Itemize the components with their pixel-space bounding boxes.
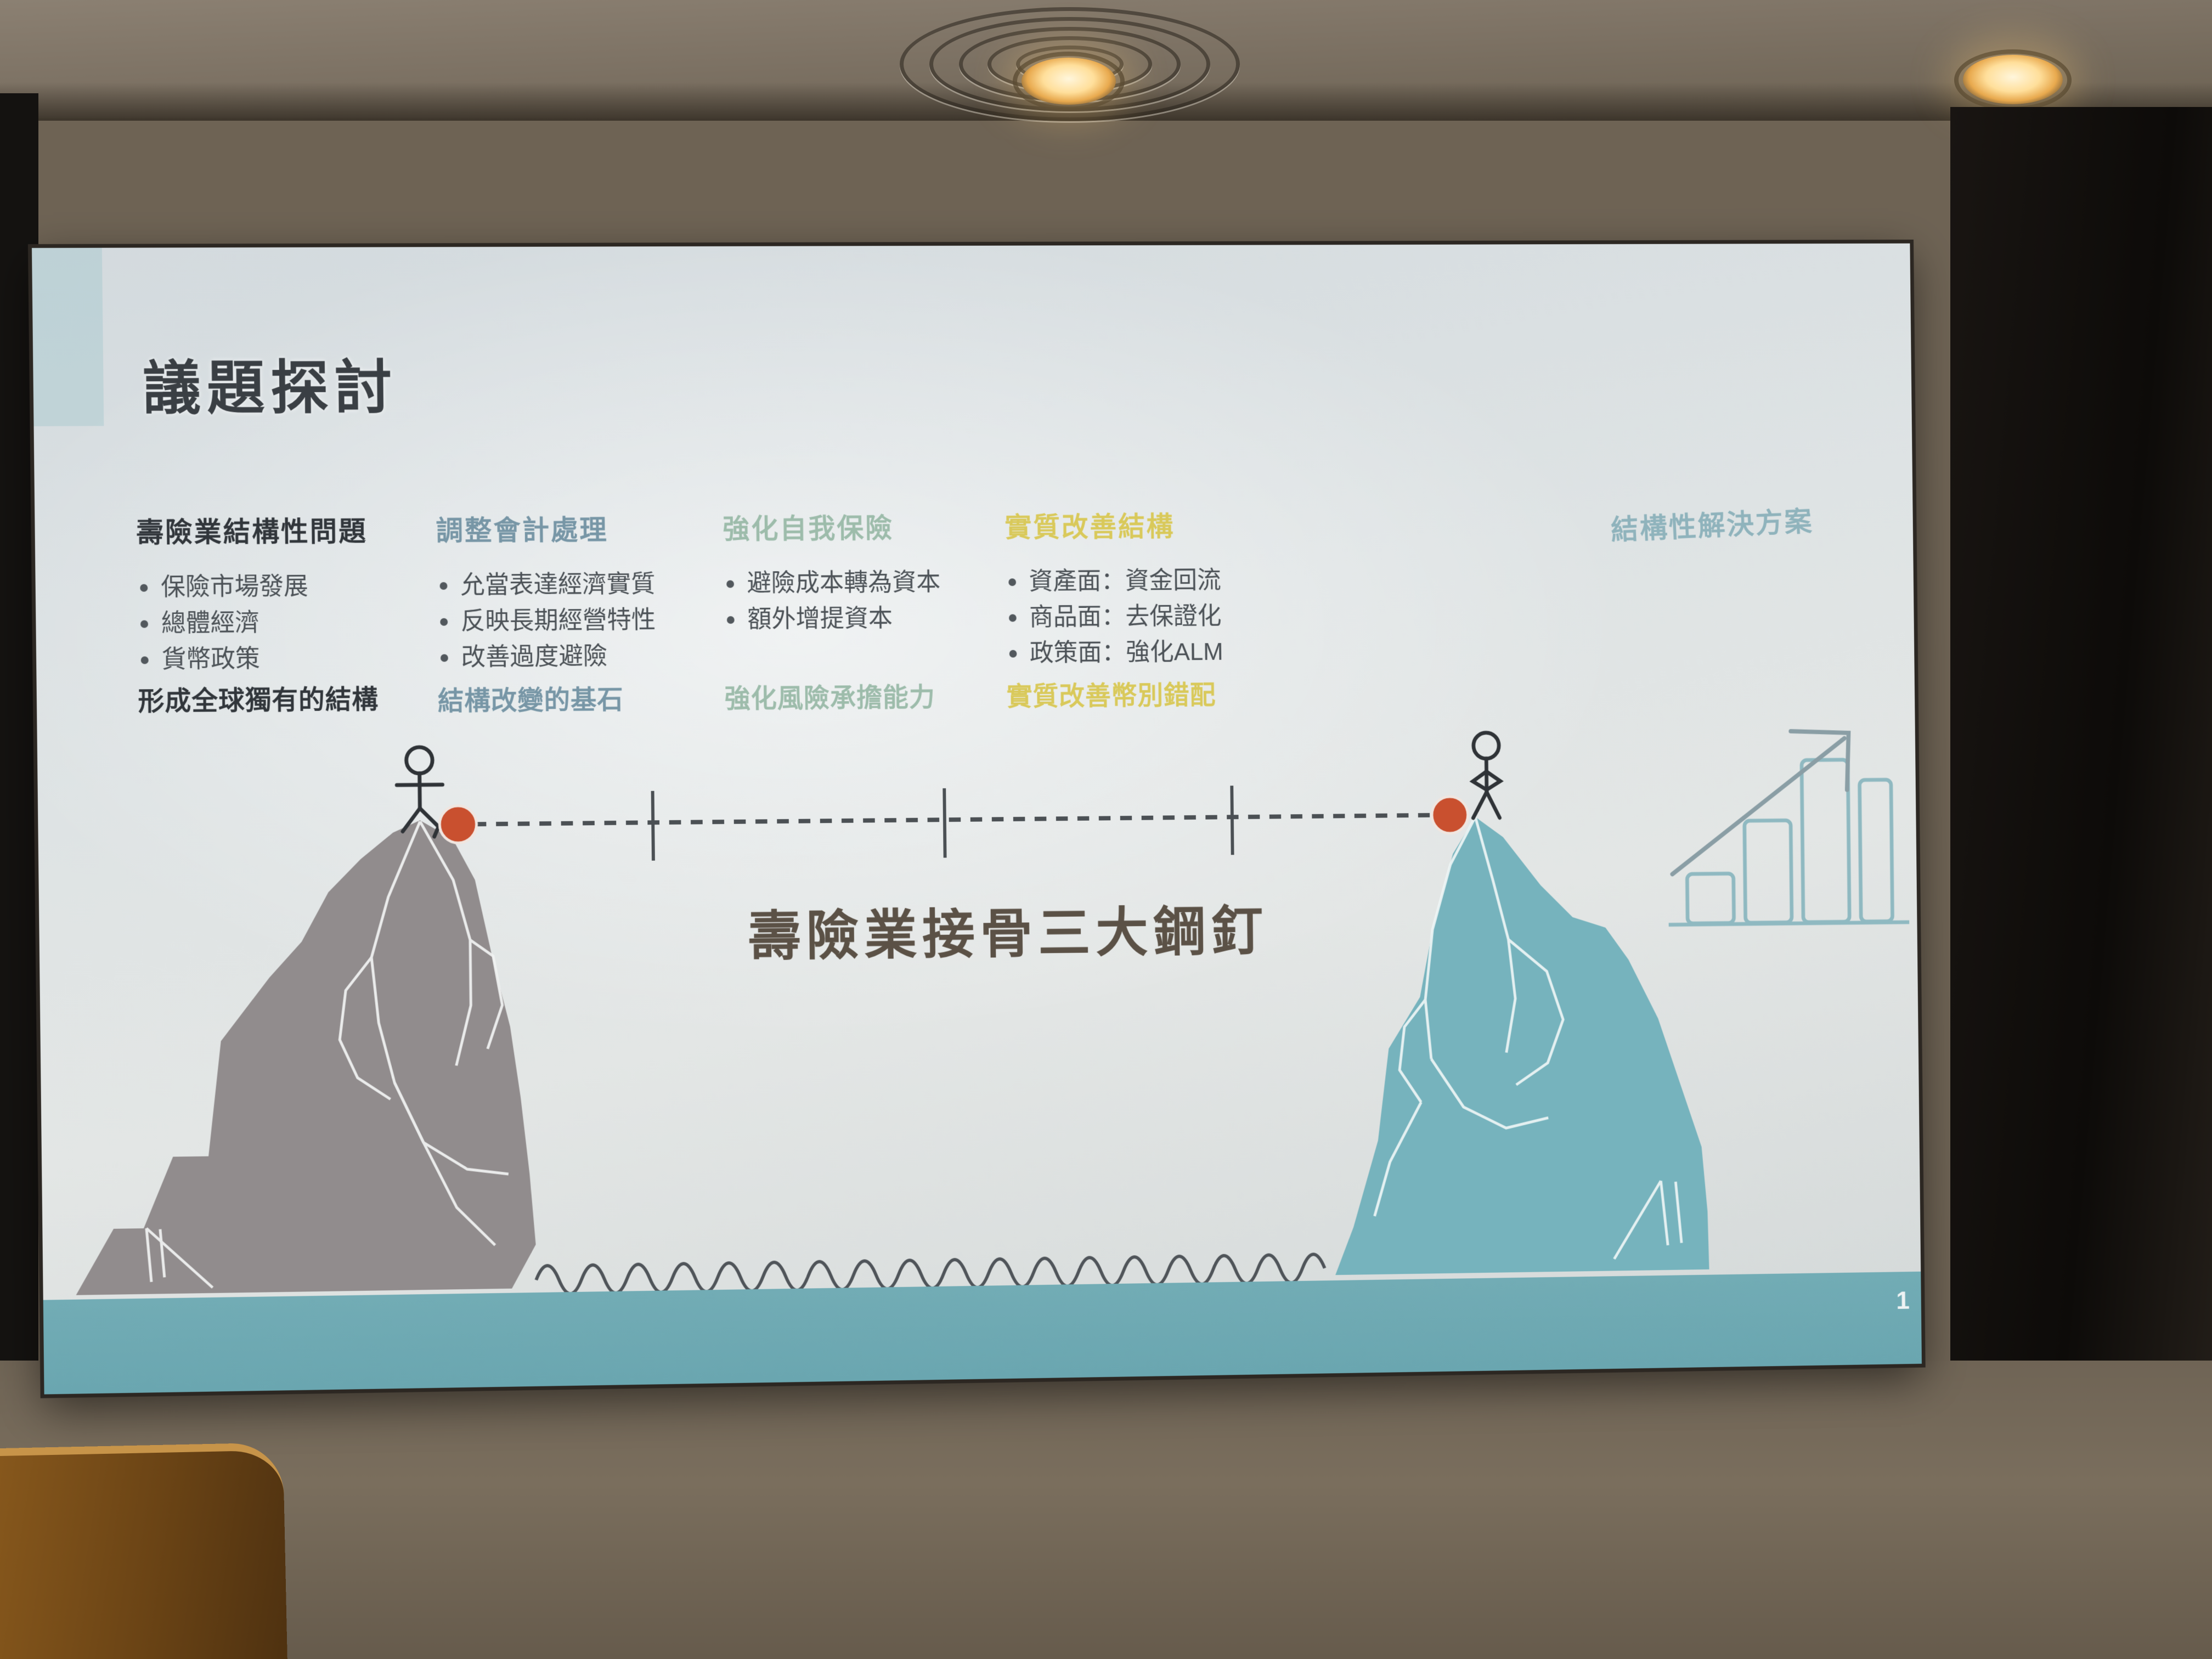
up-right-arrow-icon (1671, 731, 1850, 874)
wall-lower (0, 1361, 2212, 1659)
growth-baseline (1669, 922, 1909, 925)
foreground-chair (0, 1442, 287, 1659)
growth-bar (1860, 780, 1893, 922)
teal-solution-mountain (1330, 731, 1709, 1275)
wall-right (1950, 107, 2212, 1369)
growth-bar (1745, 820, 1792, 923)
room-scene: 議題探討 壽險業結構性問題 保險市場發展 總體經濟 貨幣政策 形成全球獨有的結構… (0, 0, 2212, 1659)
slide-illustration (32, 244, 1922, 1395)
projection-screen: 議題探討 壽險業結構性問題 保險市場發展 總體經濟 貨幣政策 形成全球獨有的結構… (32, 244, 1922, 1395)
page-number: 1 (1896, 1285, 1910, 1314)
presentation-slide: 議題探討 壽險業結構性問題 保險市場發展 總體經濟 貨幣政策 形成全球獨有的結構… (32, 244, 1922, 1395)
marker-dot-left (439, 805, 477, 843)
connector-tick (1232, 786, 1232, 855)
downlight-center-icon (1022, 58, 1116, 105)
connector-tick (944, 788, 945, 858)
connector-line (452, 783, 1452, 862)
connector-tick (653, 791, 653, 861)
center-statement: 壽險業接骨三大鋼釘 (681, 887, 1335, 971)
growth-bar (1687, 873, 1734, 923)
marker-dot-right (1432, 797, 1468, 833)
downlight-right-icon (1963, 55, 2063, 104)
growth-bar (1802, 760, 1849, 922)
stick-figure-icon (1472, 732, 1501, 818)
